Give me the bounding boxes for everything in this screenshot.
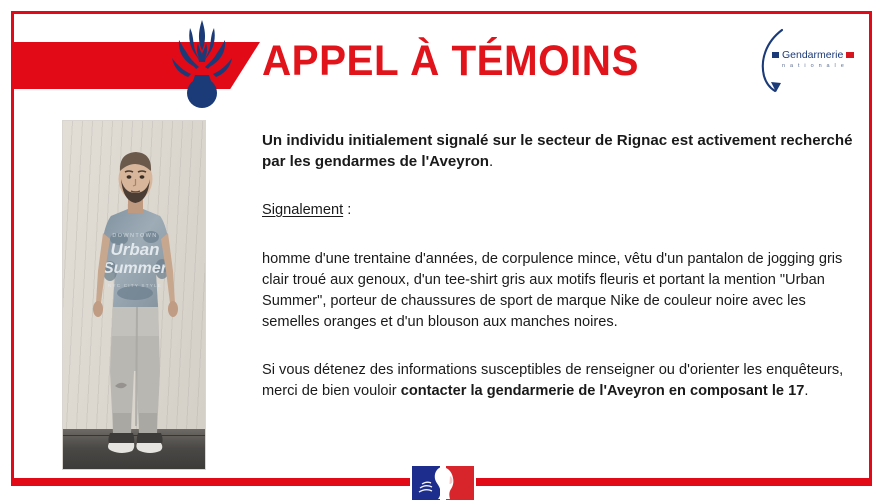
- closing-paragraph: Si vous détenez des informations suscept…: [262, 360, 862, 402]
- svg-text:Summer: Summer: [103, 260, 168, 277]
- closing-end: .: [804, 383, 808, 399]
- lead-text: Un individu initialement signalé sur le …: [262, 132, 853, 170]
- closing-bold: contacter la gendarmerie de l'Aveyron en…: [401, 383, 805, 399]
- gendarmerie-flaming-grenade-icon: [170, 18, 234, 110]
- svg-text:DOWNTOWN: DOWNTOWN: [112, 233, 157, 239]
- appel-a-temoins-poster: APPEL À TÉMOINS Gendarmerie n a t i o n …: [0, 0, 885, 500]
- marianne-french-republic-icon: [410, 466, 476, 500]
- svg-text:NYC CITY STYLE: NYC CITY STYLE: [108, 283, 162, 288]
- suspect-figure: DOWNTOWN Urban Summer NYC CITY STYLE: [63, 121, 206, 470]
- lead-paragraph: Un individu initialement signalé sur le …: [262, 130, 862, 172]
- svg-text:Urban: Urban: [110, 240, 159, 259]
- poster-header: APPEL À TÉMOINS Gendarmerie n a t i o n …: [0, 0, 885, 118]
- gendarmerie-logo-subtitle: n a t i o n a l e: [782, 63, 864, 69]
- signalement-label: Signalement: [262, 202, 343, 218]
- lead-tail: .: [489, 153, 493, 170]
- suspect-photo: DOWNTOWN Urban Summer NYC CITY STYLE: [62, 120, 206, 470]
- blue-square-icon: [772, 52, 779, 58]
- poster-body: Un individu initialement signalé sur le …: [262, 130, 862, 402]
- red-square-icon: [846, 52, 854, 58]
- description-paragraph: homme d'une trentaine d'années, de corpu…: [262, 249, 862, 333]
- gendarmerie-logo-word: Gendarmerie: [782, 50, 843, 61]
- page-title: APPEL À TÉMOINS: [262, 37, 639, 86]
- signalement-heading: Signalement :: [262, 200, 862, 221]
- gendarmerie-nationale-logo: Gendarmerie n a t i o n a l e: [752, 28, 864, 94]
- signalement-colon: :: [343, 202, 351, 218]
